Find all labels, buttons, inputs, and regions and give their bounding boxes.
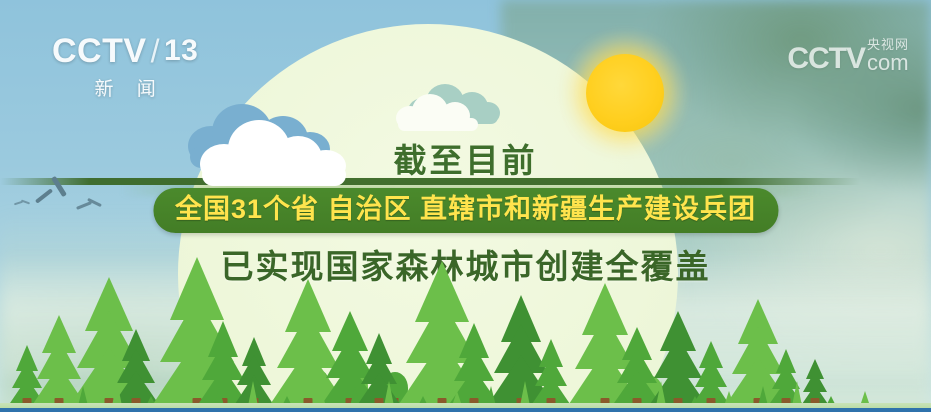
sun-icon — [586, 54, 664, 132]
cctv-logo-number: 13 — [164, 36, 198, 66]
bird-icon — [14, 198, 30, 208]
cctv-com-watermark: CCTV 央视网 com — [787, 38, 909, 74]
watermark-tld: com — [867, 52, 909, 74]
cctv-logo-brand: CCTV — [52, 34, 147, 68]
highlight-banner: 全国31个省 自治区 直辖市和新疆生产建设兵团 — [153, 188, 778, 233]
headline-line-1: 截至目前 — [0, 134, 931, 182]
broadcast-frame: CCTV / 13 新 闻 CCTV 央视网 com 截至目前 全国31个省 自… — [0, 0, 931, 412]
cctv-logo-slash: / — [151, 35, 160, 67]
bird-icon — [76, 196, 102, 214]
cloud-small-front-icon — [396, 92, 482, 130]
highlight-banner-text: 全国31个省 自治区 直辖市和新疆生产建设兵团 — [175, 194, 756, 225]
forest-treeline — [0, 282, 931, 412]
cctv13-channel-logo: CCTV / 13 新 闻 — [52, 34, 198, 101]
bird-icon — [34, 178, 70, 206]
watermark-brand: CCTV — [787, 44, 865, 74]
bottom-blue-bar — [0, 408, 931, 412]
cctv-logo-subtitle: 新 闻 — [52, 74, 198, 101]
